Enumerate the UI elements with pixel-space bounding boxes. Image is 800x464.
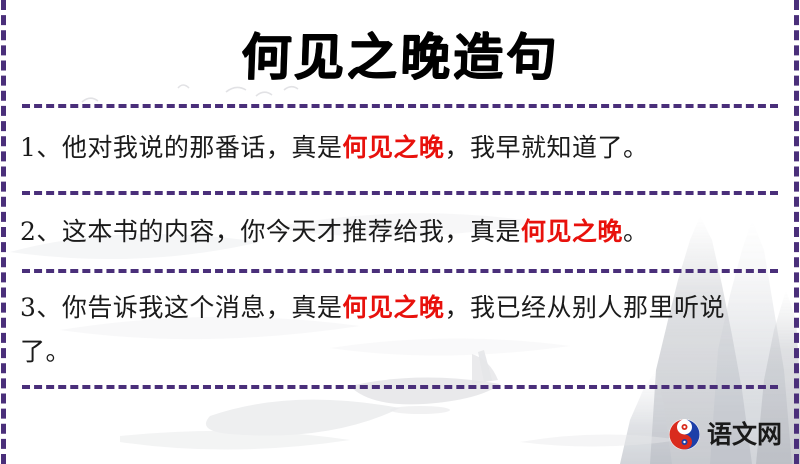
site-logo[interactable]: 语文网 xyxy=(669,419,782,450)
yinyang-circle-icon xyxy=(669,419,700,450)
slide-canvas: 何见之晚造句 1、他对我说的那番话，真是何见之晚，我早就知道了。 2、这本书的内… xyxy=(0,0,800,464)
sentence-text-after-2: 。 xyxy=(623,217,649,246)
example-sentence-3: 3、你告诉我这个消息，真是何见之晚，我已经从别人那里听说了。 xyxy=(20,286,774,374)
keyword-highlight-1: 何见之晚 xyxy=(342,133,444,162)
sentence-text-before-3: 你告诉我这个消息，真是 xyxy=(62,293,343,322)
divider-1 xyxy=(22,104,778,108)
example-sentence-2: 2、这本书的内容，你今天才推荐给我，真是何见之晚。 xyxy=(20,210,774,254)
sentence-index-3: 3、 xyxy=(20,293,62,322)
sentence-index-2: 2、 xyxy=(20,217,62,246)
keyword-highlight-3: 何见之晚 xyxy=(342,293,444,322)
divider-2 xyxy=(22,191,778,195)
sentence-text-before-2: 这本书的内容，你今天才推荐给我，真是 xyxy=(62,217,521,246)
divider-3 xyxy=(22,269,778,273)
sentence-text-before-1: 他对我说的那番话，真是 xyxy=(62,133,343,162)
sentence-text-after-1: ，我早就知道了。 xyxy=(444,133,648,162)
sentence-index-1: 1、 xyxy=(20,133,62,162)
divider-4 xyxy=(22,385,778,389)
keyword-highlight-2: 何见之晚 xyxy=(521,217,623,246)
title-area: 何见之晚造句 xyxy=(0,18,800,96)
example-sentence-1: 1、他对我说的那番话，真是何见之晚，我早就知道了。 xyxy=(20,126,774,170)
page-title: 何见之晚造句 xyxy=(240,32,560,82)
logo-text: 语文网 xyxy=(707,422,782,447)
